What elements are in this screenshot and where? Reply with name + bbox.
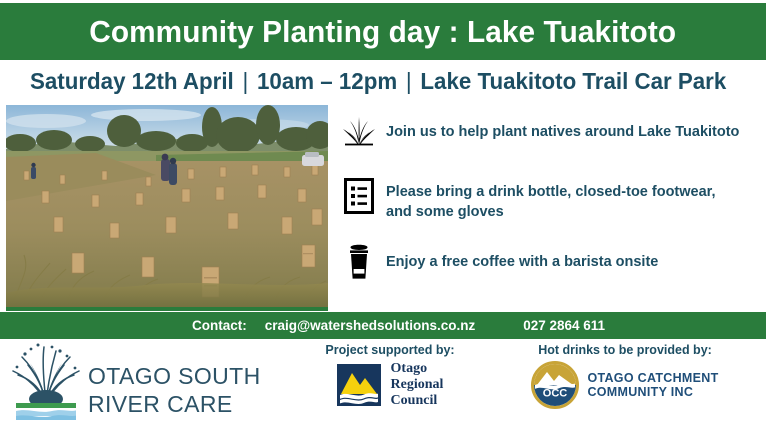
flax-bush-logo-icon [8,341,84,423]
info-row-coffee: Enjoy a free coffee with a barista onsit… [332,242,762,300]
coffee-cup-icon [332,242,386,280]
separator-1: | [234,68,257,95]
contact-bar: Contact: craig@watershedsolutions.co.nz … [0,312,766,339]
occ-block: Hot drinks to be provided by: OCC OTAGO … [490,343,760,409]
orc-logo: Otago Regional Council [300,361,480,409]
grass-tuft-icon [332,112,386,148]
info-row-bring: Please bring a drink bottle, closed-toe … [332,176,762,238]
occ-wordmark: OTAGO CATCHMENT COMMUNITY INC [587,371,718,399]
occ-caption: Hot drinks to be provided by: [490,343,760,357]
separator-2: | [397,68,420,95]
contact-label: Contact: [192,318,247,333]
osrc-line1: OTAGO SOUTH [88,362,261,390]
info-text-bring-line2: and some gloves [386,202,716,222]
info-list: Join us to help plant natives around Lak… [332,112,762,304]
event-location: Lake Tuakitoto Trail Car Park [420,68,726,95]
orc-caption: Project supported by: [300,343,480,357]
orc-line1: Otago [391,361,444,377]
osrc-line2: RIVER CARE [88,390,261,418]
orc-line3: Council [391,393,444,409]
occ-badge-text: OCC [543,388,568,400]
footer-logos: OTAGO SOUTH RIVER CARE Project supported… [0,339,766,431]
occ-logo: OCC OTAGO CATCHMENT COMMUNITY INC [490,361,760,409]
info-text-coffee: Enjoy a free coffee with a barista onsit… [386,242,658,272]
orc-line2: Regional [391,377,444,393]
info-text-bring-line1: Please bring a drink bottle, closed-toe … [386,182,716,202]
orc-mountain-logo-icon [337,364,381,406]
header-band: Community Planting day : Lake Tuakitoto [0,3,766,60]
info-text-bring: Please bring a drink bottle, closed-toe … [386,176,716,222]
event-poster: Community Planting day : Lake Tuakitoto … [0,0,766,431]
event-time: 10am – 12pm [257,68,397,95]
occ-line1: OTAGO CATCHMENT [587,371,718,385]
orc-block: Project supported by: Otago Regional Cou… [300,343,480,409]
occ-line2: COMMUNITY INC [587,385,718,399]
occ-circle-logo-icon: OCC [531,361,579,409]
page-title: Community Planting day : Lake Tuakitoto [90,14,677,50]
checklist-icon [332,176,386,214]
contact-email[interactable]: craig@watershedsolutions.co.nz [265,318,475,333]
osrc-logo: OTAGO SOUTH RIVER CARE [8,341,261,423]
event-date: Saturday 12th April [30,68,234,95]
event-details-line: Saturday 12th April | 10am – 12pm | Lake… [30,64,725,98]
orc-wordmark: Otago Regional Council [391,361,444,409]
info-row-planting: Join us to help plant natives around Lak… [332,112,762,172]
osrc-wordmark: OTAGO SOUTH RIVER CARE [88,346,261,418]
info-text-planting: Join us to help plant natives around Lak… [386,112,739,142]
planting-site-photo [6,105,328,311]
contact-phone[interactable]: 027 2864 611 [523,318,605,333]
